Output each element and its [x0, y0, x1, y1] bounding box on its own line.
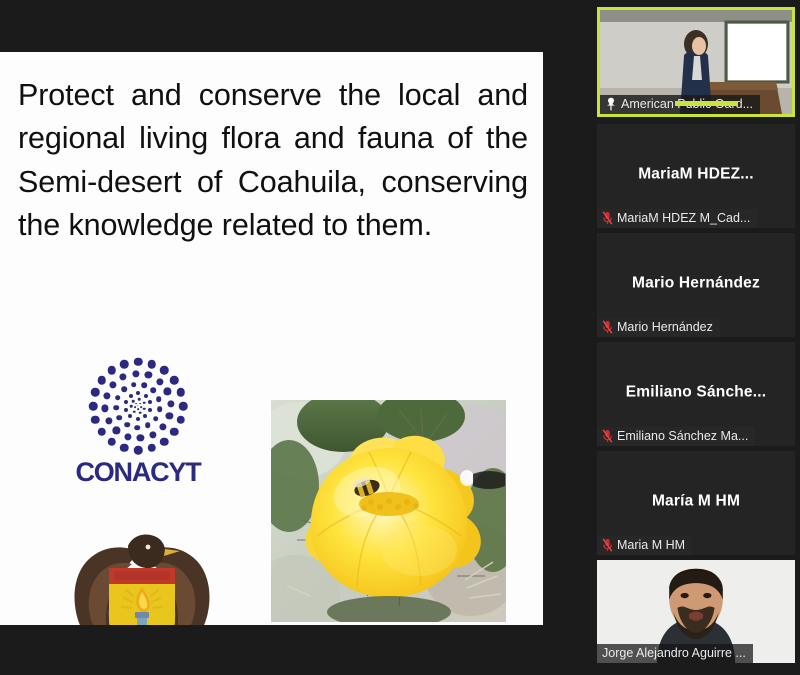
name-label-strip: Mario Hernández [597, 318, 720, 337]
participant-tile-jorge-alejandro-aguirre[interactable]: Jorge Alejandro Aguirre ... [597, 560, 795, 663]
participant-name: Emiliano Sánchez Ma... [617, 429, 748, 443]
name-label-strip: MariaM HDEZ M_Cad... [597, 209, 757, 228]
participant-tile-maria-m-hm[interactable]: María M HM Maria M HM [597, 451, 795, 555]
flower-figure: Opuntia engelmannii (flower) [271, 400, 506, 625]
active-speaker-accent-bar [675, 101, 738, 106]
participant-name: Mario Hernández [617, 320, 713, 334]
participant-name: Maria M HM [617, 538, 685, 552]
microphone-muted-icon [602, 211, 613, 225]
name-label-strip: Maria M HM [597, 536, 692, 555]
shared-screen-stage[interactable]: Protect and conserve the local and regio… [0, 0, 594, 675]
conacyt-logo: CONACYT [52, 355, 224, 486]
pin-icon [605, 97, 617, 111]
participant-name: MariaM HDEZ M_Cad... [617, 211, 750, 225]
microphone-muted-icon [602, 538, 613, 552]
conacyt-spiral-icon [83, 355, 193, 457]
microphone-muted-icon [602, 320, 613, 334]
microphone-muted-icon [602, 429, 613, 443]
name-label-strip: Jorge Alejandro Aguirre ... [597, 644, 753, 663]
name-label-strip: Emiliano Sánchez Ma... [597, 427, 755, 446]
participant-name: Jorge Alejandro Aguirre ... [602, 646, 746, 660]
participant-avatar-name: Mario Hernández [597, 275, 795, 293]
university-crest-icon [62, 524, 222, 625]
conacyt-wordmark: CONACYT [52, 459, 224, 486]
presentation-slide[interactable]: Protect and conserve the local and regio… [0, 52, 543, 625]
participant-tile-mariam-hdez[interactable]: MariaM HDEZ... MariaM HDEZ M_Cad... [597, 124, 795, 228]
slide-body-text: Protect and conserve the local and regio… [18, 74, 528, 247]
participant-avatar-name: María M HM [597, 493, 795, 511]
opuntia-flower-photo [271, 400, 506, 622]
video-conference-window: Protect and conserve the local and regio… [0, 0, 800, 675]
participant-tile-emiliano-sanchez[interactable]: Emiliano Sánche... Emiliano Sánchez Ma..… [597, 342, 795, 446]
participant-avatar-name: Emiliano Sánche... [597, 384, 795, 402]
participant-tile-mario-hernandez[interactable]: Mario Hernández Mario Hernández [597, 233, 795, 337]
participant-avatar-name: MariaM HDEZ... [597, 166, 795, 184]
participant-sidebar[interactable]: American Public Gard... MariaM HDEZ... M… [594, 0, 800, 675]
